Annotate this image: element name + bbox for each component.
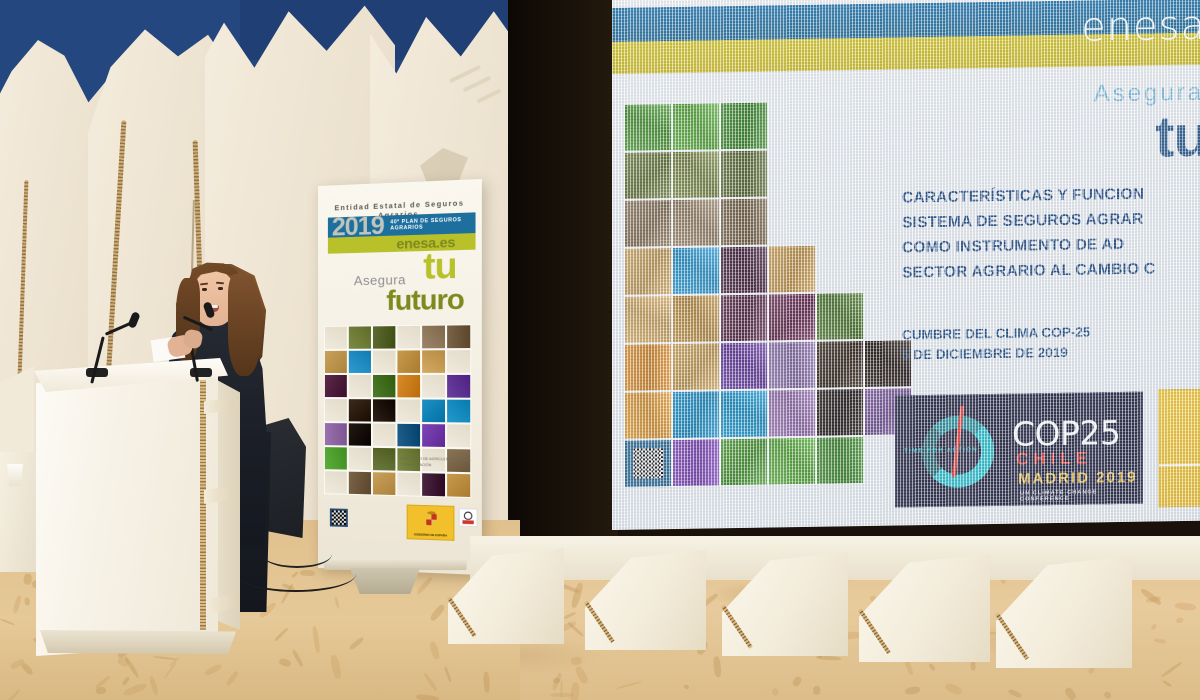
- mosaic-tile-lavender-field: [768, 341, 816, 390]
- banner-gobierno-logo: GOBIERNO DE ESPAÑA: [407, 505, 455, 541]
- banner-mosaic-tile-blue-net: [421, 398, 446, 423]
- slide-brand-wordmark: enesa: [1081, 3, 1200, 51]
- banner-footer-credits: MINISTERIO DE AGRICULTURA, PESCA Y ALIME…: [401, 455, 474, 469]
- banner-mosaic-tile-blue-net: [446, 399, 471, 424]
- floor-fleck: [571, 656, 583, 665]
- banner-mosaic-tile-cattle: [348, 398, 372, 422]
- mosaic-tile-olive-grove: [672, 150, 720, 199]
- banner-mosaic-tile-soil: [446, 324, 471, 349]
- mosaic-tile-wheat: [624, 247, 672, 296]
- banner-year: 2019: [332, 212, 384, 243]
- mosaic-tile-soil: [672, 198, 720, 247]
- mosaic-tile-lavender: [672, 438, 720, 487]
- slide-title: CARACTERÍSTICAS Y FUNCION SISTEMA DE SEG…: [902, 181, 1200, 286]
- mosaic-tile-olive-grove: [720, 150, 768, 199]
- banner-mosaic-tile-olive-fruit: [324, 374, 348, 398]
- slide-subtitle-line: 5 DE DICIEMBRE DE 2019: [902, 341, 1200, 366]
- speaker-eye: [202, 288, 207, 291]
- banner-mosaic-tile-olive-grove: [372, 447, 396, 472]
- mosaic-tile-lettuce: [720, 438, 768, 487]
- mosaic-tile-olive-blue: [672, 246, 720, 295]
- mosaic-tile-qr-code: [624, 439, 672, 488]
- banner-gob-label: GOBIERNO DE ESPAÑA: [408, 532, 454, 538]
- banner-mosaic-tile-wheat: [446, 349, 471, 374]
- mosaic-qr-code-icon: [633, 448, 663, 478]
- mosaic-tile-olive-fruit: [768, 293, 816, 342]
- mosaic-tile-citrus-orange: [624, 391, 672, 440]
- banner-mosaic-tile-olive-fruit: [372, 350, 396, 374]
- floor-fleck: [970, 661, 975, 671]
- banner-mosaic-tile-citrus-orange: [396, 374, 421, 399]
- cardboard-lectern: [36, 366, 218, 656]
- banner-qr-code-icon: [330, 508, 348, 527]
- banner-coat-of-arms-icon: [419, 508, 444, 531]
- banner-mosaic-tile-cattle: [372, 398, 396, 423]
- banner-mosaic-tile-lavender: [421, 423, 446, 448]
- mosaic-tile-olive-grove: [624, 151, 672, 200]
- banner-mosaic-tile-lettuce: [446, 423, 471, 448]
- banner-mosaic-tile-cattle: [348, 422, 372, 447]
- banner-mosaic-tile-lavender-field: [324, 398, 348, 422]
- banner-mosaic-tile-qr-code: [396, 423, 421, 448]
- mosaic-tile-wheat: [624, 295, 672, 344]
- banner-mosaic-tile-citrus-orange: [396, 398, 421, 423]
- mosaic-tile-lettuce: [768, 437, 816, 486]
- banner-website: enesa.es: [396, 234, 455, 252]
- banner-photo-mosaic: [324, 324, 480, 505]
- gobierno-de-espana-logo: DE AG Y A: [1158, 388, 1200, 508]
- slide-subtitle: CUMBRE DEL CLIMA COP-25 5 DE DICIEMBRE D…: [902, 321, 1200, 366]
- slide-photo-mosaic: [624, 99, 924, 504]
- circle-logo-icon: [460, 509, 477, 526]
- banner-mosaic-tile-soil: [396, 325, 421, 350]
- floor-cable: [262, 540, 332, 568]
- paper-cup: [6, 464, 24, 486]
- cop25-name: COP25: [1012, 413, 1120, 454]
- banner-slogan-main: futuro: [386, 283, 464, 317]
- mosaic-tile-lettuce: [816, 436, 864, 485]
- mosaic-tile-cattle: [816, 340, 864, 389]
- cop25-time-for-action: TIME FOR ACTION: [904, 447, 978, 454]
- mosaic-tile-lettuce: [672, 102, 720, 151]
- mosaic-tile-wheat: [672, 294, 720, 343]
- qr-pattern: [332, 510, 346, 525]
- banner-mosaic-tile-soil: [324, 470, 348, 495]
- banner-mosaic-tile-soil: [348, 471, 372, 496]
- gob-divider: [1159, 463, 1200, 466]
- banner-mosaic-tile-soil: [421, 325, 446, 350]
- slide-title-line: SECTOR AGRARIO AL CAMBIO C: [902, 256, 1200, 286]
- banner-mosaic-tile-olive-fruit: [348, 374, 372, 398]
- projected-slide: enesa Asegura tu CARACTERÍSTICAS Y FUNCI…: [612, 0, 1200, 530]
- mosaic-tile-soil: [720, 198, 768, 247]
- mosaic-tile-citrus: [816, 292, 864, 341]
- banner-mosaic-tile-olive-grove: [348, 325, 372, 349]
- banner-mosaic-tile-wheat: [446, 473, 471, 498]
- mosaic-tile-blue-net: [720, 390, 768, 439]
- lectern-corrugated-edge: [200, 380, 206, 630]
- cop25-country: CHILE: [1016, 448, 1092, 469]
- banner-mosaic-tile-olive-fruit: [421, 472, 446, 497]
- speaker-hair-right: [228, 274, 262, 376]
- banner-mosaic-tile-wheat: [372, 471, 396, 496]
- mosaic-tile-cattle: [816, 388, 864, 437]
- banner-mosaic-tile-lettuce: [348, 446, 372, 471]
- banner-mosaic-tile-olive-blue: [396, 472, 421, 497]
- banner-mosaic-tile-wheat: [324, 350, 348, 374]
- mosaic-tile-wheat: [768, 245, 816, 294]
- conference-photo-scene: enesa Asegura tu CARACTERÍSTICAS Y FUNCI…: [0, 0, 1200, 700]
- mosaic-tile-wheat: [672, 342, 720, 391]
- gob-ministry-text: DE AG Y A: [1159, 471, 1200, 499]
- rollup-banner: Entidad Estatal de Seguros Agrarios 2019…: [318, 179, 482, 575]
- banner-mosaic-tile-lavender-field: [372, 423, 396, 448]
- cop25-organization: UN CLIMATE CHANGE CONFERENCE: [1020, 489, 1142, 503]
- banner-stand-foot: [350, 568, 420, 594]
- mosaic-tile-soil: [624, 199, 672, 248]
- banner-mosaic-tile-citrus: [372, 374, 396, 398]
- banner-mosaic-tile-olive-grove: [324, 326, 348, 350]
- slide-tagline-big: tu: [1155, 103, 1200, 171]
- banner-mosaic-tile-wheat: [396, 349, 421, 374]
- mosaic-tile-olive-fruit: [720, 294, 768, 343]
- microphone-base: [86, 368, 108, 377]
- banner-secondary-logo: [459, 508, 478, 527]
- mosaic-tile-lavender-field: [768, 389, 816, 438]
- projection-screen-shadow: [508, 0, 618, 545]
- banner-mosaic-tile-lavender-field: [324, 422, 348, 446]
- mosaic-tile-lavender: [720, 342, 768, 391]
- banner-mosaic-tile-lettuce: [324, 446, 348, 471]
- mosaic-tile-citrus-orange: [624, 343, 672, 392]
- floor-fleck: [23, 573, 31, 585]
- spain-coat-of-arms-icon: [1195, 399, 1200, 458]
- banner-mosaic-tile-wheat: [421, 374, 446, 399]
- mosaic-tile-lettuce: [624, 103, 672, 152]
- banner-mosaic-tile-lavender: [446, 374, 471, 399]
- speaker-eye: [218, 287, 223, 290]
- lectern-base: [40, 630, 236, 654]
- cop25-city-year: MADRID 2019: [1018, 469, 1138, 488]
- mosaic-tile-olive-fruit: [720, 246, 768, 295]
- gob-line-2: Y A: [1159, 484, 1200, 499]
- mosaic-tile-blue-net: [672, 390, 720, 439]
- mosaic-tile-lettuce: [720, 102, 768, 151]
- banner-mosaic-tile-olive-grove: [372, 325, 396, 350]
- cop25-logo: TIME FOR ACTION COP25 CHILE MADRID 2019 …: [895, 392, 1143, 508]
- banner-mosaic-tile-olive-blue: [348, 350, 372, 374]
- gob-line-1: DE AG: [1159, 471, 1200, 486]
- banner-mosaic-tile-wheat: [421, 349, 446, 374]
